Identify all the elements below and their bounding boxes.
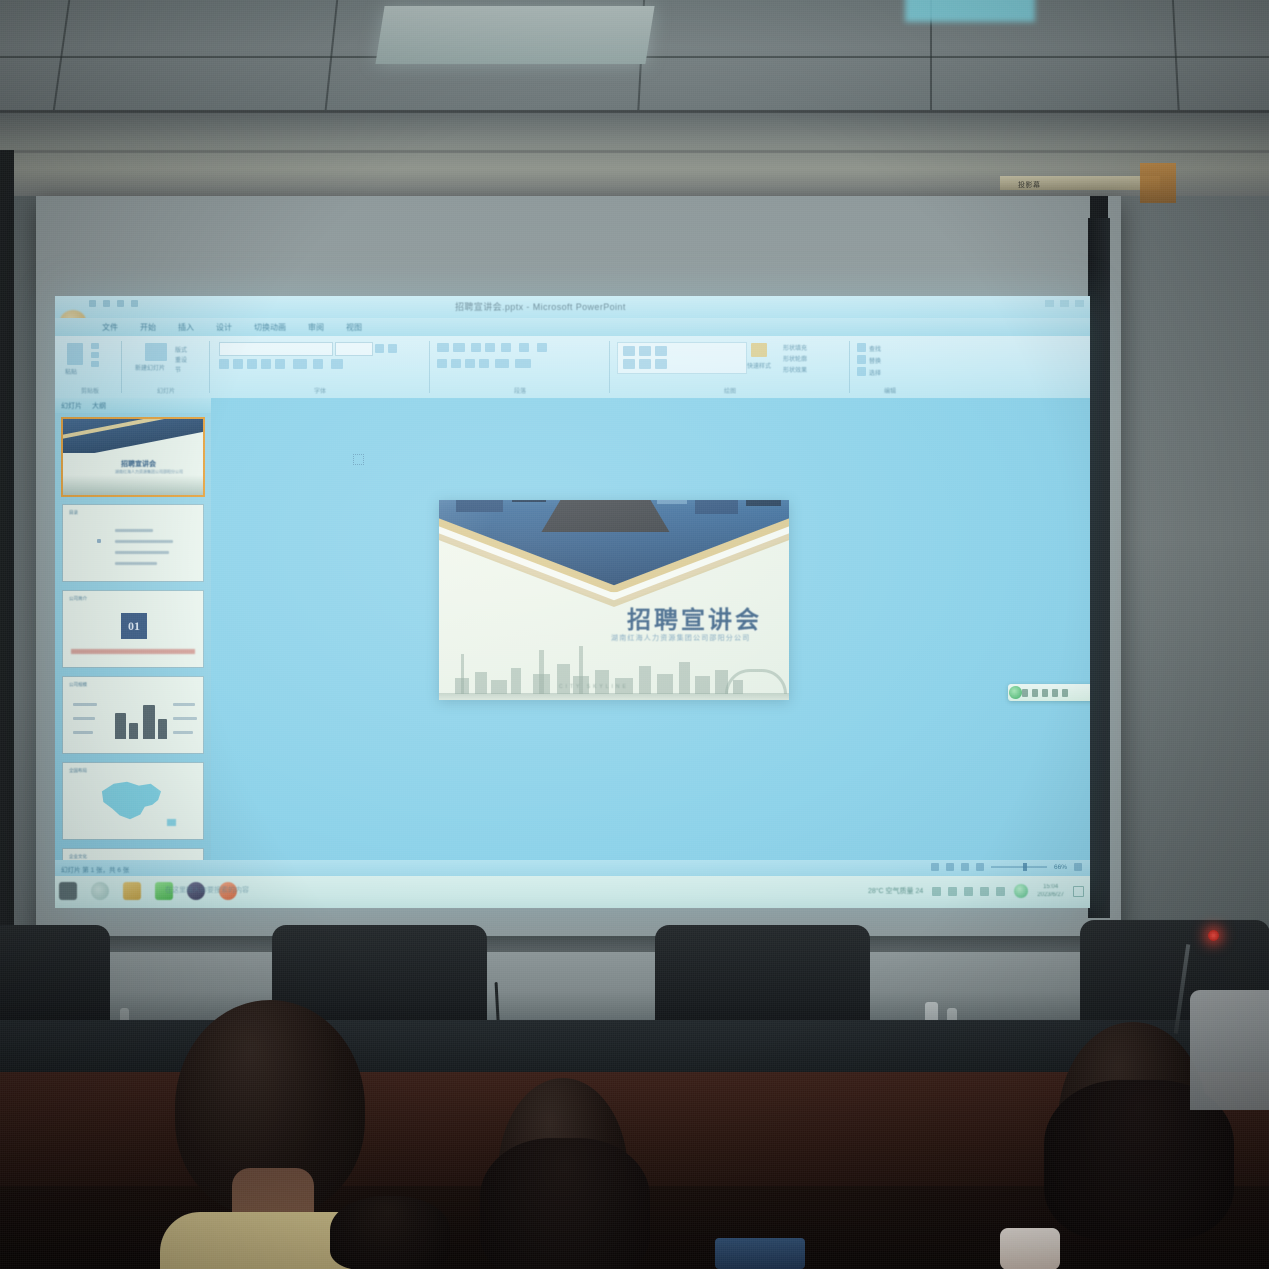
section-label[interactable]: 节: [175, 365, 181, 374]
font-size-combo[interactable]: [335, 342, 373, 356]
thumbnail-slide-1[interactable]: 1 招聘宣讲会 湖南红海人力资源集团公司邵阳分公司: [62, 418, 204, 496]
taskbar-search-box[interactable]: 在这里输入你要搜索的内容: [165, 885, 249, 895]
numbering-icon[interactable]: [453, 343, 465, 352]
start-button-icon[interactable]: [59, 882, 77, 900]
ime-icon[interactable]: [996, 887, 1005, 896]
bold-icon[interactable]: [219, 359, 229, 369]
tab-slides[interactable]: 幻灯片: [61, 401, 82, 411]
window-controls[interactable]: [1045, 300, 1084, 307]
thumbnail-slide-5[interactable]: 5 全国布局: [62, 762, 204, 840]
pen-icon[interactable]: [1022, 689, 1028, 697]
current-slide[interactable]: 招聘宣讲会 湖南红海人力资源集团公司邵阳分公司: [439, 500, 789, 700]
thumb5-heading: 全国布局: [69, 768, 87, 774]
replace-icon[interactable]: [857, 355, 866, 364]
tab-file[interactable]: 文件: [91, 322, 129, 333]
thumb1-chevron: [63, 419, 203, 453]
shape-triangle-icon[interactable]: [639, 359, 651, 369]
stage-front-wall: [0, 952, 1269, 1024]
font-color-icon[interactable]: [331, 359, 343, 369]
ribbon-group-drawing[interactable]: 快速样式 形状填充 形状轮廓 形状效果 绘图: [615, 339, 845, 395]
blue-bag: [715, 1238, 805, 1269]
group-label-paragraph: 段落: [514, 386, 526, 395]
taiwan-graphic: [167, 819, 176, 826]
char-spacing-icon[interactable]: [293, 359, 307, 369]
paste-icon[interactable]: [67, 343, 83, 365]
eraser-icon[interactable]: [1042, 689, 1048, 697]
recording-led-indicator: [1208, 930, 1219, 941]
cloud-icon[interactable]: [948, 887, 957, 896]
slide-editing-stage[interactable]: 招聘宣讲会 湖南红海人力资源集团公司邵阳分公司: [211, 398, 1090, 860]
thumb3-heading: 公司简介: [69, 596, 87, 602]
format-painter-icon[interactable]: [91, 361, 99, 367]
shadow-icon[interactable]: [261, 359, 271, 369]
audience-woman-center-head: [498, 1078, 628, 1269]
tab-review[interactable]: 审阅: [297, 322, 335, 333]
thumbnail-slide-3[interactable]: 3 公司简介 01: [62, 590, 204, 668]
slide-counter: 幻灯片 第 1 张，共 6 张: [61, 864, 129, 874]
ceiling-beam: [0, 110, 1269, 205]
font-name-combo[interactable]: [219, 342, 333, 356]
ceiling: [0, 0, 1269, 118]
status-right-controls[interactable]: 66%: [931, 863, 1082, 871]
thumbnail-list[interactable]: 1 招聘宣讲会 湖南红海人力资源集团公司邵阳分公司 2 目录: [55, 414, 211, 864]
system-tray[interactable]: [932, 887, 1005, 896]
select-label[interactable]: 选择: [869, 368, 881, 377]
foreground-object: [1000, 1228, 1060, 1269]
slide-skyline-graphic: CITY SKYLINE: [439, 642, 789, 700]
thumb2-bullet-icon: [97, 539, 101, 543]
save-icon[interactable]: [89, 300, 96, 307]
ribbon-tab-bar[interactable]: 文件 开始 插入 设计 切换动画 审阅 视图: [55, 318, 1090, 336]
reset-label[interactable]: 重设: [175, 355, 187, 364]
cut-icon[interactable]: [91, 343, 99, 349]
shape-effects-label[interactable]: 形状效果: [783, 365, 807, 374]
highlighter-icon[interactable]: [1032, 689, 1038, 697]
slide-sorter-icon[interactable]: [946, 863, 954, 871]
group-label-drawing: 绘图: [724, 386, 736, 395]
windows-taskbar[interactable]: 在这里输入你要搜索的内容 28°C 空气质量 24 15:04 2023/6/2…: [55, 876, 1090, 908]
replace-label[interactable]: 替换: [869, 356, 881, 365]
columns-icon[interactable]: [495, 359, 509, 368]
tab-design[interactable]: 设计: [205, 322, 243, 333]
tab-insert[interactable]: 插入: [167, 322, 205, 333]
line-spacing-icon[interactable]: [501, 343, 511, 352]
shape-outline-label[interactable]: 形状轮廓: [783, 354, 807, 363]
group-label-font: 字体: [314, 386, 326, 395]
lecture-hall-photo: 投影幕 招聘宣讲会.pptx - Microsoft PowerPoint: [0, 0, 1269, 1269]
text-direction-icon[interactable]: [519, 343, 529, 352]
find-label[interactable]: 查找: [869, 344, 881, 353]
shape-line-icon[interactable]: [623, 359, 635, 369]
china-map-graphic: [93, 777, 167, 825]
thumb4-heading: 公司规模: [69, 682, 87, 688]
taskbar-right[interactable]: 28°C 空气质量 24 15:04 2023/6/27: [868, 883, 1084, 899]
reading-view-icon[interactable]: [961, 863, 969, 871]
ribbon[interactable]: 粘贴 剪贴板 新建幻灯片 版式 重设 节 幻灯片: [55, 336, 1090, 399]
audience-woman-right-head: [1058, 1022, 1208, 1222]
strikethrough-icon[interactable]: [275, 359, 285, 369]
ribbon-group-editing[interactable]: 查找 替换 选择 编辑: [855, 339, 925, 395]
slide-chevron-banner: [439, 500, 789, 616]
minimize-icon[interactable]: [1045, 300, 1054, 307]
weather-widget[interactable]: 28°C 空气质量 24: [868, 886, 923, 896]
group-label-editing: 编辑: [884, 386, 896, 395]
thumbnail-slide-4[interactable]: 4 公司规模: [62, 676, 204, 754]
justify-icon[interactable]: [479, 359, 489, 368]
powerpoint-title-bar: 招聘宣讲会.pptx - Microsoft PowerPoint: [55, 296, 1090, 318]
ceiling-light-glow: [905, 0, 1035, 22]
skyline-caption: CITY SKYLINE: [559, 684, 629, 690]
tray-shield-icon[interactable]: [1014, 884, 1028, 898]
customize-icon[interactable]: [131, 300, 138, 307]
find-icon[interactable]: [857, 343, 866, 352]
powerpoint-window: 招聘宣讲会.pptx - Microsoft PowerPoint 文件 开始 …: [55, 296, 1090, 876]
quick-access-toolbar[interactable]: [89, 300, 138, 307]
taskbar-clock[interactable]: 15:04 2023/6/27: [1037, 883, 1064, 899]
left-wall-shadow: [0, 150, 14, 1030]
up-arrow-icon[interactable]: [932, 887, 941, 896]
shape-oval-icon[interactable]: [639, 346, 651, 356]
italic-icon[interactable]: [233, 359, 243, 369]
ribbon-group-clipboard[interactable]: 粘贴 剪贴板: [61, 339, 119, 395]
normal-view-icon[interactable]: [931, 863, 939, 871]
slide-thumbnail-panel[interactable]: 幻灯片 大纲 1 招聘宣讲会 湖南红海人力资源集团公司邵阳分公司: [55, 398, 212, 860]
undo-icon[interactable]: [103, 300, 110, 307]
screen-right-edge: [1088, 218, 1110, 918]
clock-date: 2023/6/27: [1037, 891, 1064, 899]
group-label-slides: 幻灯片: [157, 386, 175, 395]
close-icon[interactable]: [1075, 300, 1084, 307]
central-tower: [541, 500, 669, 532]
zoom-slider[interactable]: [991, 866, 1047, 868]
projected-desktop: 招聘宣讲会.pptx - Microsoft PowerPoint 文件 开始 …: [55, 296, 1090, 908]
shape-arrow-icon[interactable]: [655, 346, 667, 356]
underline-icon[interactable]: [247, 359, 257, 369]
search-icon[interactable]: [91, 882, 109, 900]
person-right-edge: [1190, 990, 1269, 1110]
zoom-level: 66%: [1054, 864, 1067, 871]
paste-label: 粘贴: [65, 367, 77, 376]
grow-font-icon[interactable]: [375, 344, 384, 353]
ribbon-group-slides[interactable]: 新建幻灯片 版式 重设 节 幻灯片: [127, 339, 205, 395]
layout-label[interactable]: 版式: [175, 345, 187, 354]
redo-icon[interactable]: [117, 300, 124, 307]
browser-icon[interactable]: [123, 882, 141, 900]
panel-tab-bar[interactable]: 幻灯片 大纲: [55, 398, 217, 413]
maximize-icon[interactable]: [1060, 300, 1069, 307]
slideshow-icon[interactable]: [976, 863, 984, 871]
screen-bracket: [1140, 163, 1176, 203]
new-slide-label: 新建幻灯片: [135, 363, 165, 372]
tab-view[interactable]: 视图: [335, 322, 373, 333]
volume-icon[interactable]: [980, 887, 989, 896]
align-center-icon[interactable]: [451, 359, 461, 368]
align-left-icon[interactable]: [437, 359, 447, 368]
quick-styles-label: 快速样式: [747, 361, 771, 370]
bullets-icon[interactable]: [437, 343, 449, 352]
ribbon-group-paragraph[interactable]: 段落: [435, 339, 605, 395]
copy-icon[interactable]: [91, 352, 99, 358]
annotation-toolbar[interactable]: [1008, 684, 1090, 701]
laser-icon[interactable]: [1052, 689, 1058, 697]
thumb3-section-number: 01: [121, 613, 147, 639]
new-slide-icon[interactable]: [145, 343, 167, 361]
shape-star-icon[interactable]: [655, 359, 667, 369]
slide-title: 招聘宣讲会: [627, 600, 762, 635]
thumb3-red-text: [71, 649, 195, 654]
thumb1-skyline: [63, 475, 203, 495]
powerpoint-status-bar[interactable]: 幻灯片 第 1 张，共 6 张 66%: [55, 860, 1090, 876]
right-wall: [1100, 196, 1269, 956]
shrink-font-icon[interactable]: [388, 344, 397, 353]
thumb1-title: 招聘宣讲会: [121, 459, 156, 469]
audience-person-small-head: [330, 1196, 450, 1269]
change-case-icon[interactable]: [313, 359, 323, 369]
quick-styles-icon[interactable]: [751, 343, 767, 357]
window-title: 招聘宣讲会.pptx - Microsoft PowerPoint: [455, 300, 626, 313]
network-icon[interactable]: [964, 887, 973, 896]
woman-center-hair: [480, 1138, 650, 1269]
annotation-leaf-icon[interactable]: [1009, 686, 1022, 699]
ceiling-light-panel: [375, 6, 654, 64]
bridge-arch-graphic: [725, 669, 787, 694]
shape-gallery[interactable]: [617, 342, 747, 374]
thumbnail-slide-2[interactable]: 2 目录: [62, 504, 204, 582]
thumb2-heading: 目录: [69, 510, 78, 516]
capture-icon[interactable]: [1062, 689, 1068, 697]
notification-icon[interactable]: [1073, 886, 1084, 897]
ribbon-group-font[interactable]: 字体: [215, 339, 425, 395]
smartart-icon[interactable]: [515, 359, 531, 368]
tab-outline[interactable]: 大纲: [92, 401, 106, 411]
increase-indent-icon[interactable]: [485, 343, 495, 352]
tab-transitions[interactable]: 切换动画: [243, 322, 297, 333]
group-label-clipboard: 剪贴板: [81, 386, 99, 395]
shape-rect-icon[interactable]: [623, 346, 635, 356]
align-text-icon[interactable]: [537, 343, 547, 352]
thumb1-subtitle: 湖南红海人力资源集团公司邵阳分公司: [115, 469, 183, 475]
fit-to-window-icon[interactable]: [1074, 863, 1082, 871]
align-right-icon[interactable]: [465, 359, 475, 368]
slide-placeholder-marker: [353, 454, 364, 465]
tab-home[interactable]: 开始: [129, 322, 167, 333]
clock-time: 15:04: [1037, 883, 1064, 891]
decrease-indent-icon[interactable]: [471, 343, 481, 352]
select-icon[interactable]: [857, 367, 866, 376]
screen-roller-label: 投影幕: [1018, 180, 1041, 190]
shape-fill-label[interactable]: 形状填充: [783, 343, 807, 352]
